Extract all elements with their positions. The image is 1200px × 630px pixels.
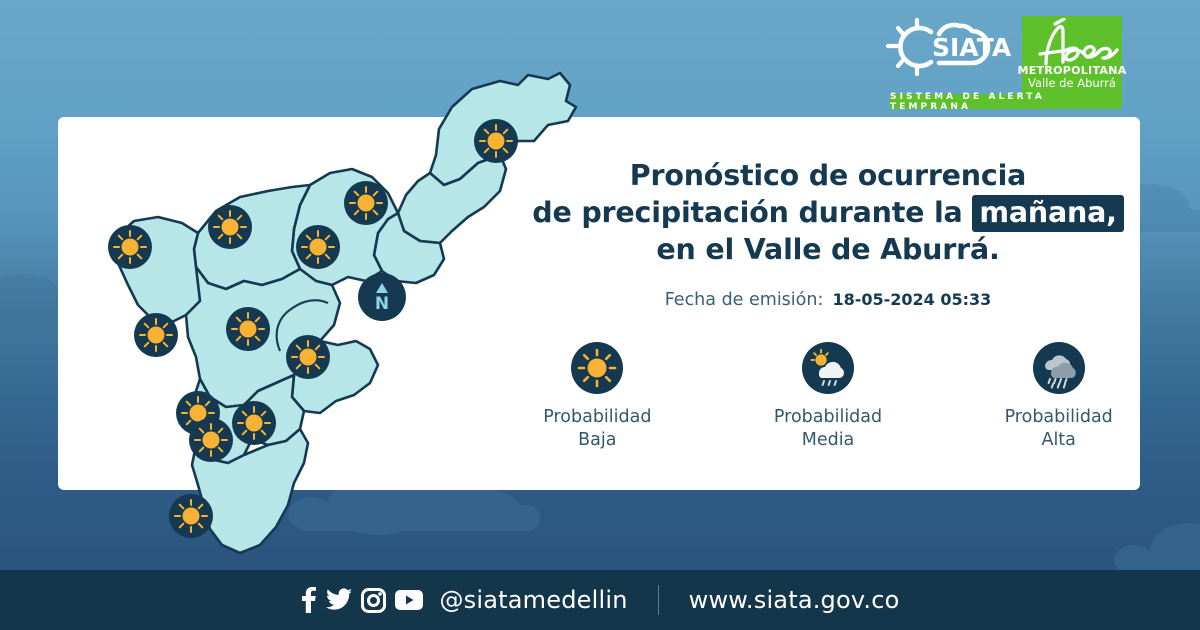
legend-label-baja: Probabilidad Baja	[543, 406, 651, 452]
map-marker-girardota[interactable]	[344, 181, 388, 225]
map-marker-west-south[interactable]	[134, 313, 178, 357]
map-marker-envigado[interactable]	[286, 335, 330, 379]
map-marker-copacabana[interactable]	[296, 225, 340, 269]
logo-group: SIATA METROPOLITANA Valle de Aburrá	[884, 16, 1122, 94]
area-script-icon	[1022, 18, 1122, 70]
twitter-icon	[326, 588, 352, 612]
website-url[interactable]: www.siata.gov.co	[689, 586, 900, 614]
social-handle[interactable]: @siatamedellin	[439, 586, 627, 614]
infographic-canvas: SIATA METROPOLITANA Valle de Aburrá SIST…	[0, 0, 1200, 630]
facebook-icon	[300, 587, 317, 613]
area-metropolitana-logo[interactable]: METROPOLITANA Valle de Aburrá	[1022, 16, 1122, 94]
content-card: N Pronóstico de ocurrencia de precipitac…	[58, 117, 1140, 490]
probability-legend: Probabilidad Baja	[528, 342, 1128, 452]
legend-alta-line1: Probabilidad	[1005, 406, 1113, 429]
map-marker-itagui[interactable]	[232, 401, 276, 445]
area-logo-line2: Valle de Aburrá	[1028, 77, 1116, 90]
siata-logo[interactable]: SIATA	[884, 16, 1014, 90]
legend-baja-line2: Baja	[543, 429, 651, 452]
map-marker-bello[interactable]	[208, 205, 252, 249]
sun-icon	[571, 342, 623, 394]
legend-item-media[interactable]: Probabilidad Media	[759, 342, 898, 452]
footer-divider	[658, 585, 659, 615]
legend-media-line1: Probabilidad	[774, 406, 882, 429]
page-title: Pronóstico de ocurrencia de precipitació…	[528, 157, 1128, 268]
emission-date-label: Fecha de emisión:	[665, 290, 824, 310]
legend-label-alta: Probabilidad Alta	[1005, 406, 1113, 452]
legend-label-media: Probabilidad Media	[774, 406, 882, 452]
map-marker-barbosa[interactable]	[474, 119, 518, 163]
siata-tagline-text: SISTEMA DE ALERTA TEMPRANA	[890, 92, 1122, 112]
emission-date: Fecha de emisión: 18-05-2024 05:33	[528, 290, 1128, 310]
title-line-2-text: de precipitación durante la	[532, 196, 962, 229]
legend-item-baja[interactable]: Probabilidad Baja	[528, 342, 667, 452]
title-line-2: de precipitación durante la mañana,	[528, 194, 1128, 231]
sun-cloud-rain-icon	[802, 342, 854, 394]
instagram-icon	[361, 588, 386, 613]
forecast-panel: Pronóstico de ocurrencia de precipitació…	[528, 157, 1128, 452]
title-highlight-manana: mañana,	[972, 195, 1123, 232]
legend-media-line2: Media	[774, 429, 882, 452]
title-line-3: en el Valle de Aburrá.	[528, 231, 1128, 268]
compass-rose: N	[358, 273, 406, 321]
siata-wordmark: SIATA	[932, 33, 1012, 62]
emission-date-value: 18-05-2024 05:33	[832, 290, 991, 309]
map-marker-west[interactable]	[108, 225, 152, 269]
valle-de-aburra-map[interactable]: N	[48, 45, 608, 555]
map-marker-medellin[interactable]	[226, 307, 270, 351]
legend-alta-line2: Alta	[1005, 429, 1113, 452]
map-marker-caldas[interactable]	[169, 494, 213, 538]
footer-bar: @siatamedellin www.siata.gov.co	[0, 570, 1200, 630]
map-marker-sabaneta[interactable]	[189, 418, 233, 462]
legend-item-alta[interactable]: Probabilidad Alta	[989, 342, 1128, 452]
compass-north-label: N	[375, 294, 389, 314]
social-icons	[300, 587, 423, 613]
youtube-icon	[395, 590, 423, 610]
legend-baja-line1: Probabilidad	[543, 406, 651, 429]
siata-tagline: SISTEMA DE ALERTA TEMPRANA	[890, 94, 1122, 109]
cloud-heavy-rain-icon	[1033, 342, 1085, 394]
title-line-1: Pronóstico de ocurrencia	[528, 157, 1128, 194]
